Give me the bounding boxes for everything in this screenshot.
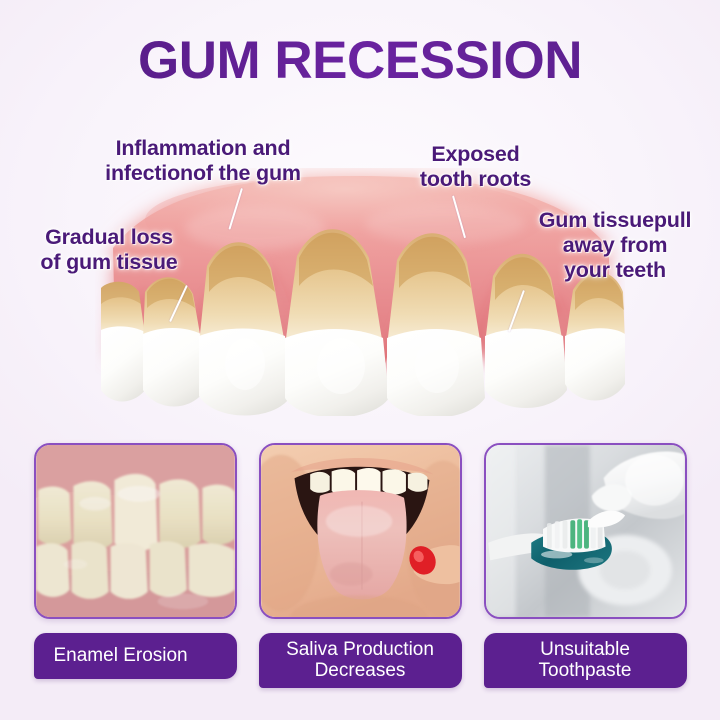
- card-caption-saliva-production: Saliva Production Decreases: [259, 633, 462, 688]
- gum-recession-infographic: GUM RECESSION: [0, 0, 720, 720]
- card-unsuitable-toothpaste[interactable]: Unsuitable Toothpaste: [484, 443, 687, 713]
- open-mouth-tongue-photo: [259, 443, 462, 619]
- toothbrush-toothpaste-photo: [484, 443, 687, 619]
- gum-recession-diagram: [95, 168, 625, 416]
- page-title: GUM RECESSION: [0, 34, 720, 87]
- card-caption-unsuitable-toothpaste: Unsuitable Toothpaste: [484, 633, 687, 688]
- callout-exposed-roots: Exposed tooth roots: [398, 142, 553, 192]
- teeth-closeup-photo: [34, 443, 237, 619]
- card-saliva-production[interactable]: Saliva Production Decreases: [259, 443, 462, 713]
- card-caption-enamel-erosion: Enamel Erosion: [34, 633, 237, 679]
- callout-inflammation: Inflammation and infectionof the gum: [78, 136, 328, 186]
- callout-gradual-loss: Gradual loss of gum tissue: [14, 225, 204, 275]
- callout-pull-away: Gum tissuepull away from your teeth: [515, 208, 715, 283]
- card-enamel-erosion[interactable]: Enamel Erosion: [34, 443, 237, 713]
- cause-cards: Enamel Erosion: [0, 443, 720, 713]
